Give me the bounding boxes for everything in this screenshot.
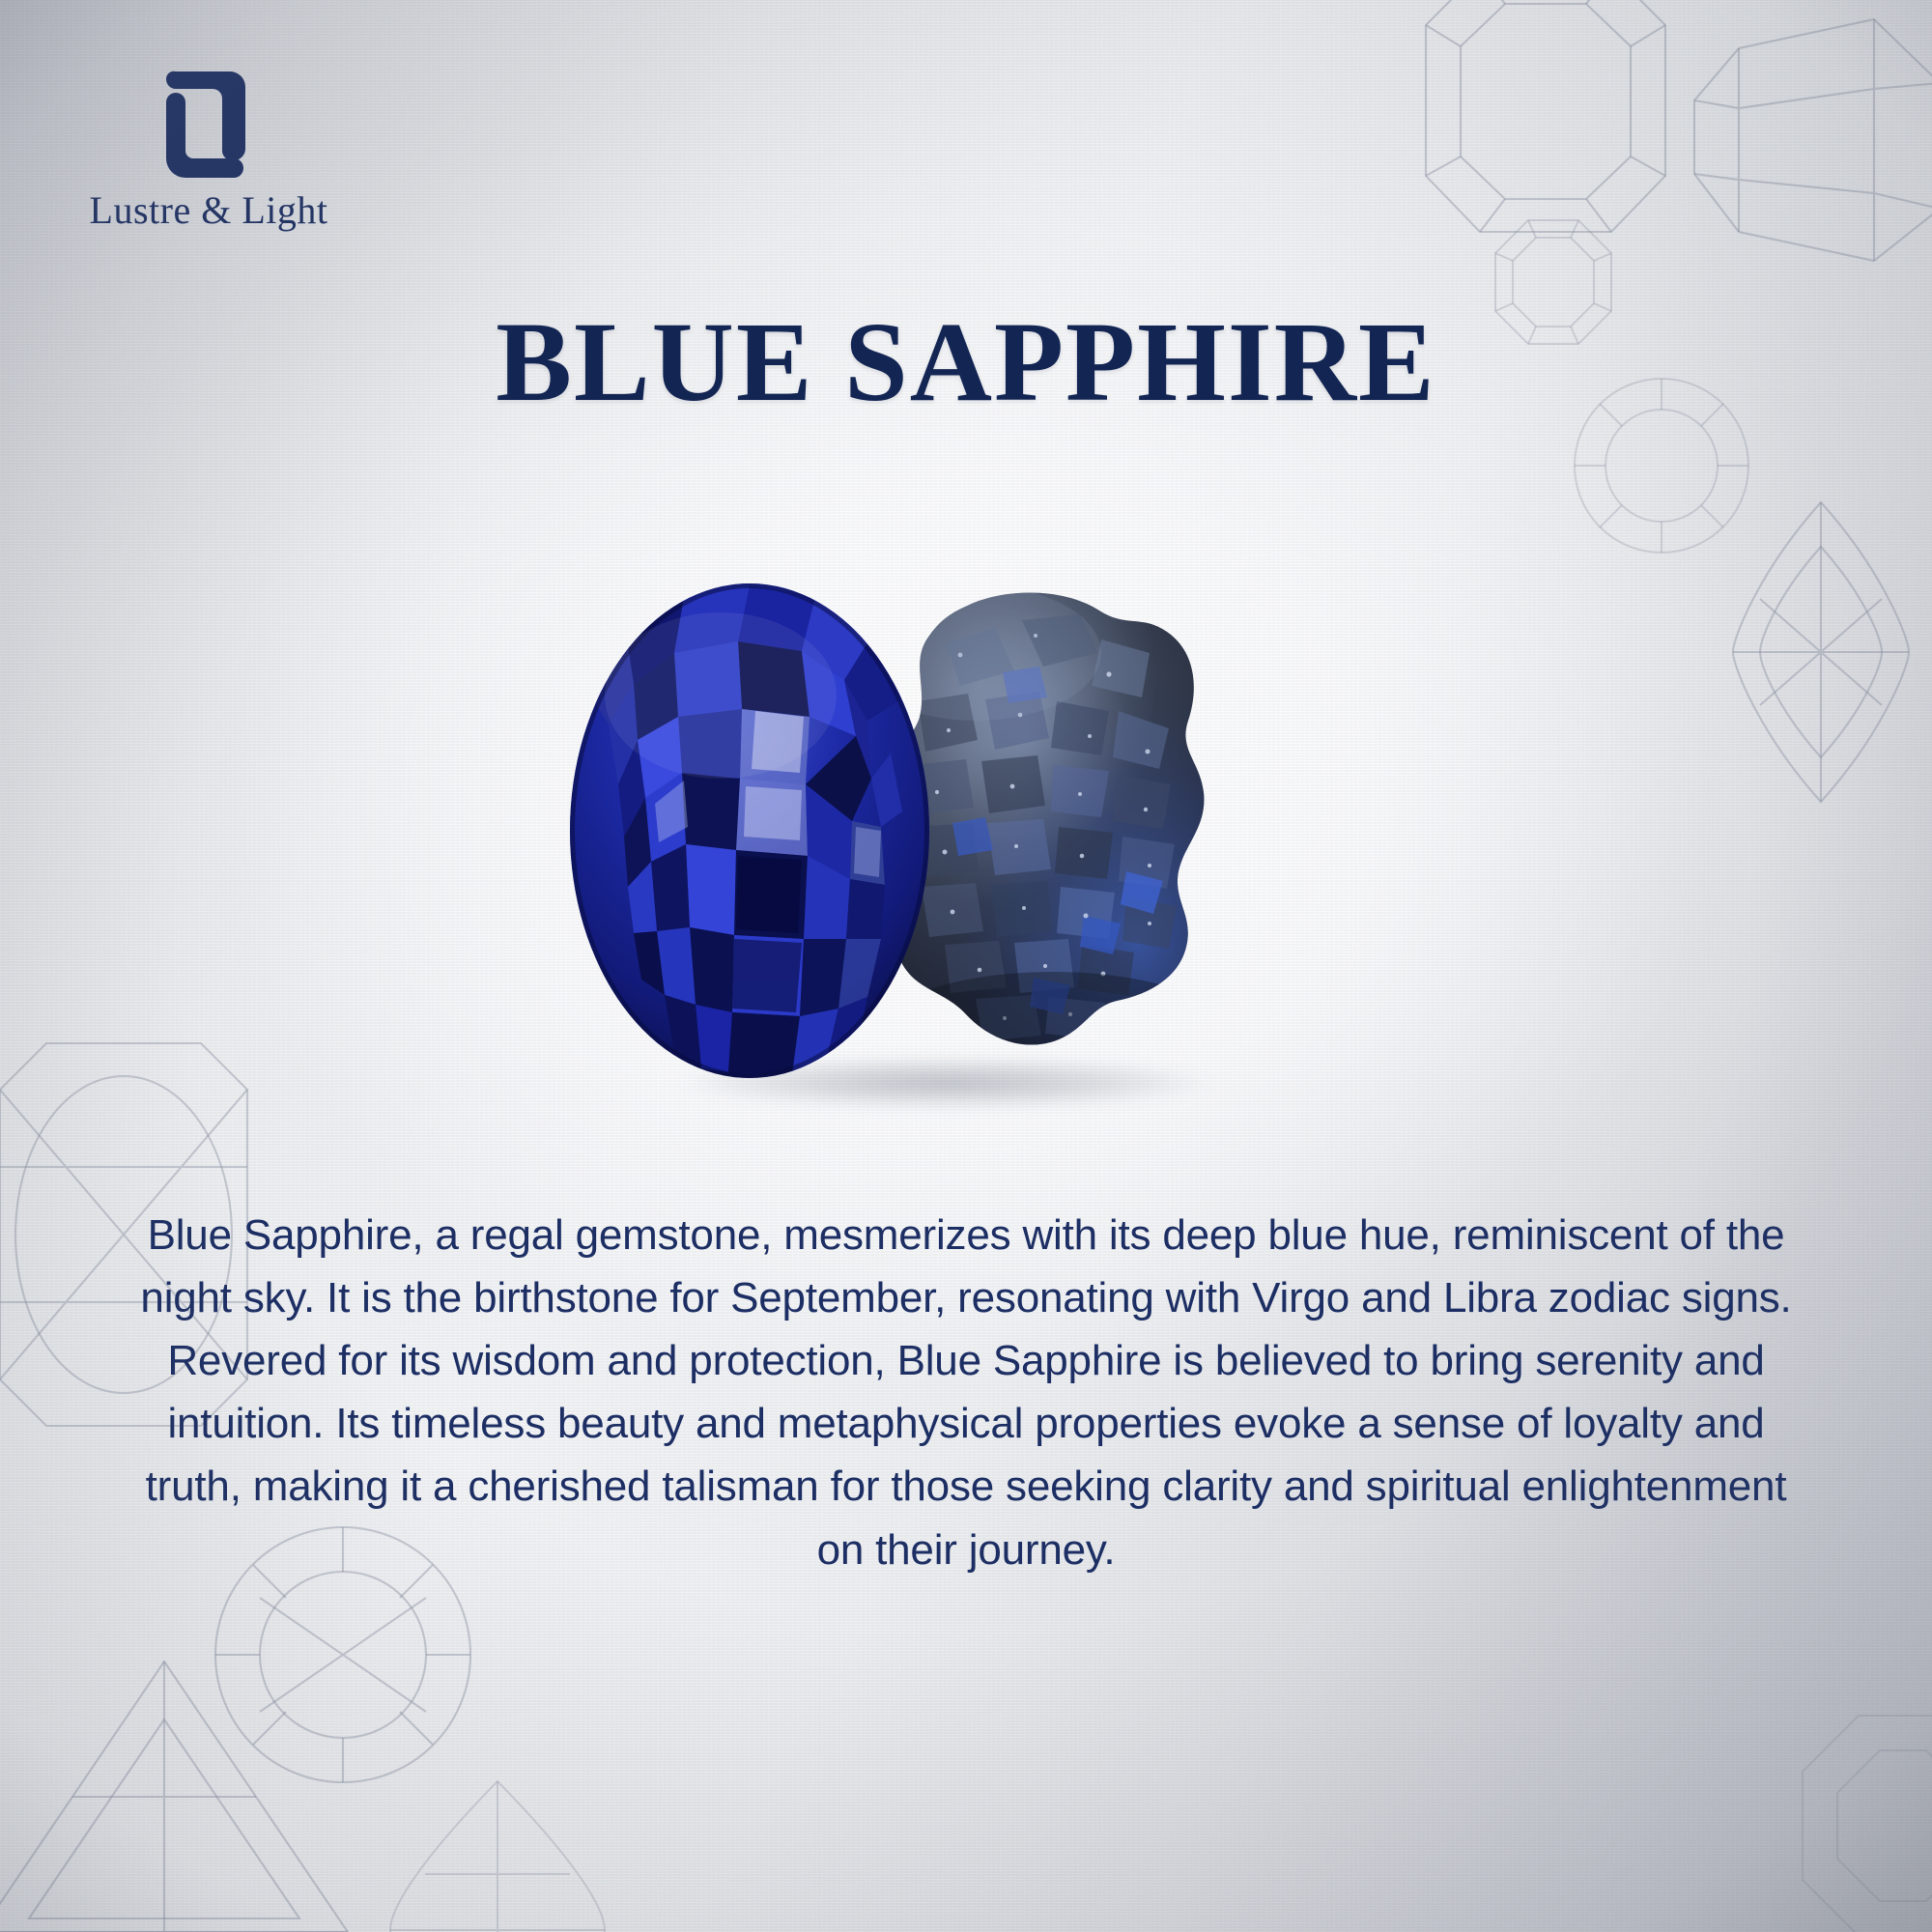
poster-canvas: Lustre & Light BLUE SAPPHIRE — [0, 0, 1932, 1932]
emerald-cut-gem-outline — [1391, 0, 1700, 280]
brand-wordmark: Lustre & Light — [64, 187, 354, 233]
brand-logo[interactable]: Lustre & Light — [64, 64, 354, 233]
pear-gem-outline — [377, 1768, 618, 1932]
gemstone-hero-image — [541, 570, 1352, 1111]
octagon-gem-outline — [1787, 1700, 1932, 1932]
marquise-gem-outline — [1710, 493, 1932, 811]
oval-cut-blue-sapphire — [566, 580, 933, 1082]
trillion-gem-outline — [0, 1642, 367, 1932]
description-paragraph: Blue Sapphire, a regal gemstone, mesmeri… — [124, 1204, 1808, 1581]
prism-gem-outline — [1681, 0, 1932, 290]
bracket-l-monogram-icon — [162, 64, 255, 178]
page-title: BLUE SAPPHIRE — [0, 305, 1932, 419]
